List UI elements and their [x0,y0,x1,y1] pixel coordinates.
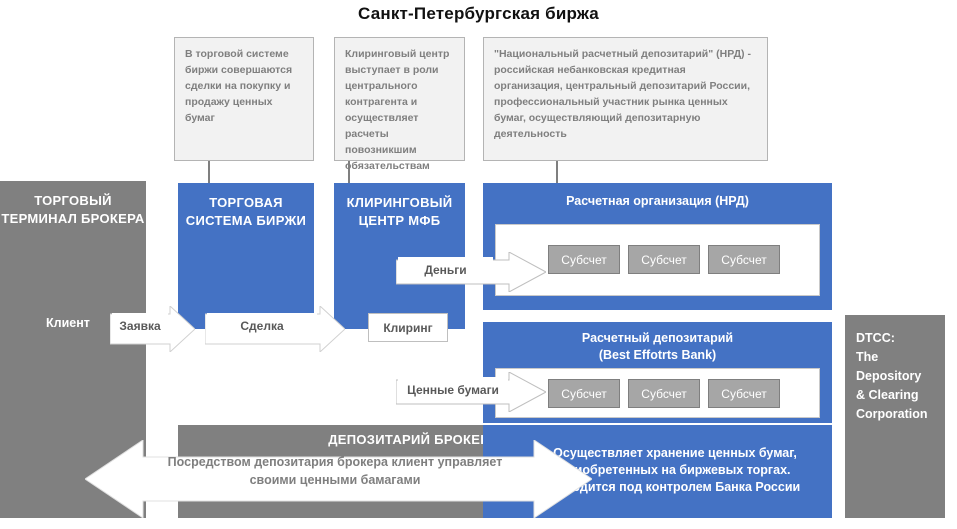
note-trading-system-text: В торговой системе биржи совершаются сде… [185,48,292,124]
subaccount-money-1[interactable]: Субсчет [548,245,620,274]
subaccount-securities-2[interactable]: Субсчет [628,379,700,408]
dtcc-line-1: DTCC: [856,329,942,348]
dtcc-line-2: The [856,348,942,367]
subaccount-securities-1-label: Субсчет [561,387,606,401]
note-trading-system: В торговой системе биржи совершаются сде… [174,37,314,161]
dtcc-block: DTCC: The Depository & Clearing Corporat… [845,315,945,518]
connector-line-trading-system [208,161,210,183]
subaccount-money-1-label: Субсчет [561,253,606,267]
subaccount-securities-3-label: Субсчет [721,387,766,401]
securities-label: Ценные бумаги [407,383,499,397]
settlement-depository-label-1: Расчетный депозитарий [483,330,832,347]
subaccount-securities-1[interactable]: Субсчет [548,379,620,408]
deal-label: Сделка [240,319,283,333]
client-label: Клиент [46,316,90,330]
clearing-label-chip: Клиринг [368,313,448,342]
trading-system-label: ТОРГОВАЯ СИСТЕМА БИРЖИ [178,194,314,231]
settlement-depository-label-2: (Best Effotrts Bank) [483,347,832,364]
dtcc-line-5: Corporation [856,405,942,424]
connector-line-clearing-center [348,161,350,183]
connector-line-nsd [556,161,558,183]
deal-label-chip: Сделка [207,313,317,339]
clearing-center-label: КЛИРИНГОВЫЙ ЦЕНТР МФБ [334,194,465,231]
note-clearing-center-text: Клиринговый центр выступает в роли центр… [345,48,449,172]
subaccount-securities-2-label: Субсчет [641,387,686,401]
note-nsd-text: "Национальный расчетный депозитарий" (НР… [494,48,751,140]
subaccount-securities-3[interactable]: Субсчет [708,379,780,408]
securities-label-chip: Ценные бумаги [398,377,508,402]
settlement-organisation-label: Расчетная организация (НРД) [483,193,832,210]
subaccount-money-3-label: Субсчет [721,253,766,267]
diagram-canvas: Санкт-Петербургская биржа В торговой сис… [0,0,957,529]
custody-description-line1: Посредством депозитария брокера клиент у… [140,453,530,471]
page-title: Санкт-Петербургская биржа [0,4,957,24]
broker-terminal-label: ТОРГОВЫЙ ТЕРМИНАЛ БРОКЕРА [0,192,146,229]
money-label: Деньги [424,263,466,277]
subaccount-money-3[interactable]: Субсчет [708,245,780,274]
order-label: Заявка [119,319,160,333]
dtcc-line-3: Depository [856,367,942,386]
order-label-chip: Заявка [112,313,168,339]
dtcc-line-4: & Clearing [856,386,942,405]
money-label-chip: Деньги [398,257,493,282]
custody-description-line2: своими ценными бамагами [140,471,530,489]
note-clearing-center: Клиринговый центр выступает в роли центр… [334,37,465,161]
note-nsd: "Национальный расчетный депозитарий" (НР… [483,37,768,161]
subaccount-money-2-label: Субсчет [641,253,686,267]
subaccount-money-2[interactable]: Субсчет [628,245,700,274]
clearing-label: Клиринг [383,321,432,335]
